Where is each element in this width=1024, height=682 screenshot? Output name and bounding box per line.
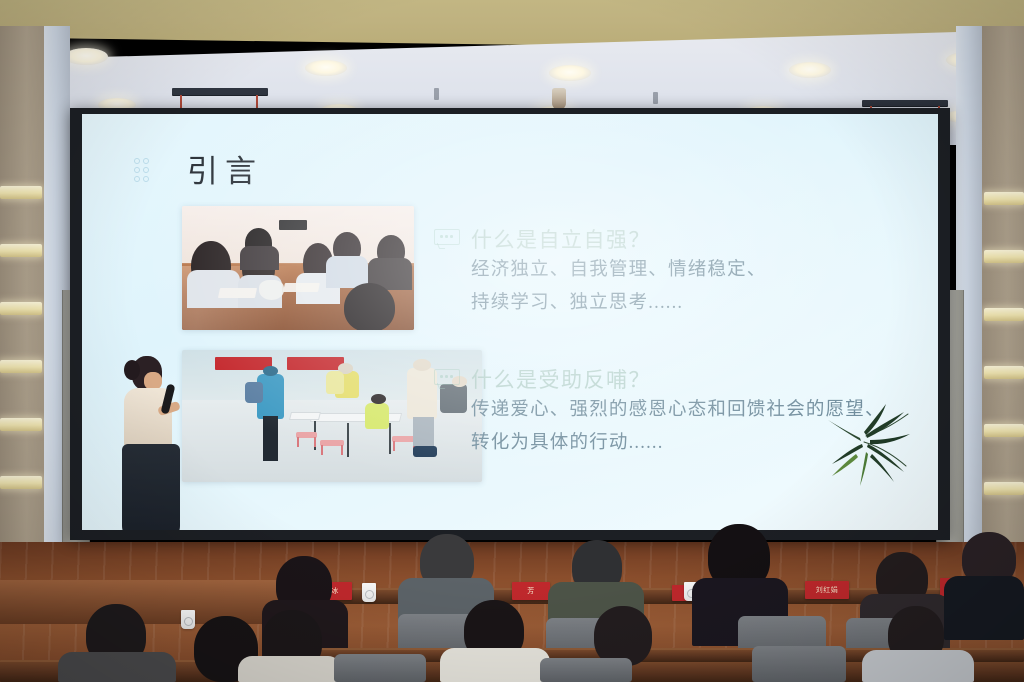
- photo-students-meeting: [182, 206, 414, 330]
- nameplate: 芳: [512, 582, 550, 600]
- ceiling-downlight: [64, 48, 108, 65]
- ceiling-downlight: [305, 60, 347, 76]
- content-block-1-line-1: 经济独立、自我管理、情绪稳定、: [471, 254, 767, 287]
- sprinkler-head: [434, 88, 439, 100]
- stage-edge: [0, 580, 292, 624]
- presenter: [110, 356, 188, 530]
- content-block-2: 什么是受助反哺？ 传递爱心、强烈的感恩心态和回馈社会的愿望、 转化为具体的行动.…: [434, 364, 885, 460]
- chat-bubble-icon: [434, 369, 460, 389]
- projection-screen-frame: 引言: [70, 108, 950, 540]
- wall-led-strip: [984, 250, 1024, 263]
- audience-member-body: [58, 652, 176, 682]
- left-wall: [0, 26, 44, 626]
- wall-led-strip: [984, 482, 1024, 495]
- audience-member-head: [594, 606, 652, 666]
- bamboo-ink-painting: [820, 402, 916, 506]
- ceiling-mounted-fixture: [172, 88, 268, 95]
- wall-led-strip: [0, 476, 42, 489]
- ceiling-mounted-fixture: [862, 100, 948, 106]
- ceiling-downlight: [549, 65, 591, 81]
- content-block-1: 什么是自立自强？ 经济独立、自我管理、情绪稳定、 持续学习、独立思考......: [434, 224, 767, 320]
- dot-grid-decoration: [134, 158, 149, 182]
- lecture-hall-scene: 引言: [0, 0, 1024, 682]
- pendant-speaker: [552, 88, 566, 110]
- wall-led-strip: [0, 244, 42, 257]
- projection-screen: 引言: [82, 114, 938, 530]
- wall-led-strip: [984, 308, 1024, 321]
- content-block-1-line-2: 持续学习、独立思考......: [471, 287, 767, 320]
- ceiling-downlight: [789, 62, 831, 78]
- nameplate: 刘红娟: [805, 581, 849, 599]
- content-block-1-heading: 什么是自立自强？: [471, 224, 651, 254]
- slide-title: 引言: [187, 146, 263, 191]
- audience-member-body: [440, 648, 550, 682]
- audience-chair: [540, 658, 632, 682]
- content-block-2-heading-row: 什么是受助反哺？: [434, 364, 885, 394]
- wall-led-strip: [0, 418, 42, 431]
- audience-chair: [334, 654, 426, 682]
- content-block-1-heading-row: 什么是自立自强？: [434, 224, 767, 254]
- audience-member-body: [944, 576, 1024, 640]
- wall-led-strip: [984, 424, 1024, 437]
- content-block-2-heading: 什么是受助反哺？: [471, 364, 651, 394]
- audience-member-body: [238, 656, 342, 682]
- audience-chair: [752, 646, 846, 682]
- wall-led-strip: [0, 302, 42, 315]
- wall-led-strip: [0, 360, 42, 373]
- wall-led-strip: [0, 186, 42, 199]
- paper-cup: [181, 610, 195, 629]
- paper-cup: [362, 583, 376, 602]
- wall-led-strip: [984, 366, 1024, 379]
- chat-bubble-icon: [434, 229, 460, 249]
- sprinkler-head: [653, 92, 658, 104]
- wall-led-strip: [984, 192, 1024, 205]
- event-banner: [287, 357, 344, 370]
- audience-member-body: [862, 650, 974, 682]
